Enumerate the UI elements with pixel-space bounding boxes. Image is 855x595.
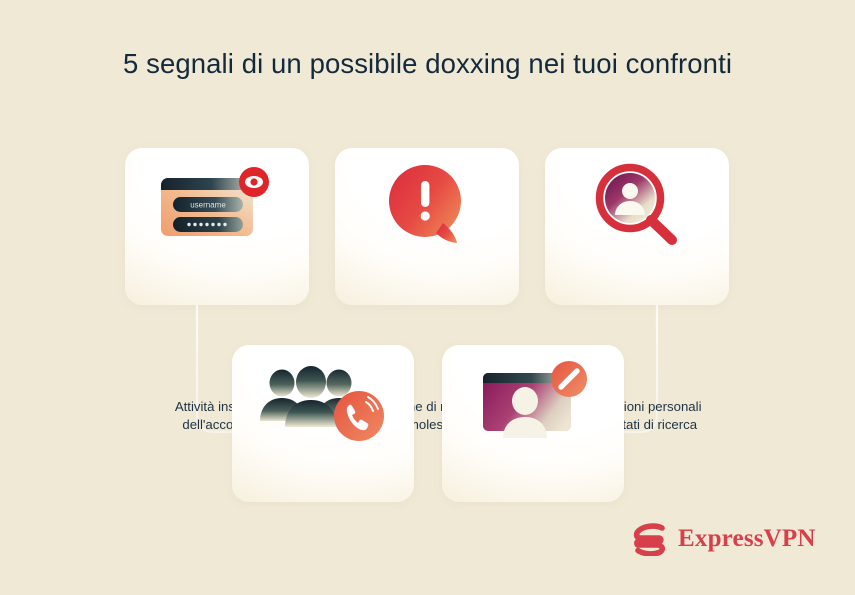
magnifying-glass-person-icon	[545, 162, 729, 246]
card-personal-info-in-search[interactable]: Informazioni personali nei risultati di …	[545, 148, 729, 305]
expressvpn-e-mark-icon	[633, 522, 667, 556]
speech-bubble-exclamation-icon	[335, 162, 519, 246]
card-changes-to-online-profiles[interactable]: Modifiche ai tuoi profili online	[442, 345, 624, 502]
expressvpn-wordmark: ExpressVPN	[678, 525, 816, 553]
infographic-canvas: 5 segnali di un possibile doxxing nei tu…	[0, 0, 855, 595]
phone-call-icon	[334, 391, 384, 441]
eye-icon	[239, 167, 269, 197]
card-strangers-contacting-friends[interactable]: Estranei che contattano amici o famiglia…	[232, 345, 414, 502]
login-window-with-eye-icon: username	[125, 166, 309, 244]
card-threats-or-harassment[interactable]: Ricezione di minacce o molestie	[335, 148, 519, 305]
card-unusual-account-activity[interactable]: username Attività insolita dell'account	[125, 148, 309, 305]
profile-window-with-pencil-icon	[442, 359, 624, 443]
group-of-people-with-phone-call-icon	[232, 361, 414, 443]
username-field-text: username	[190, 201, 226, 210]
pencil-edit-icon	[551, 361, 587, 397]
expressvpn-logo[interactable]: ExpressVPN	[633, 522, 816, 556]
page-title: 5 segnali di un possibile doxxing nei tu…	[0, 48, 855, 80]
